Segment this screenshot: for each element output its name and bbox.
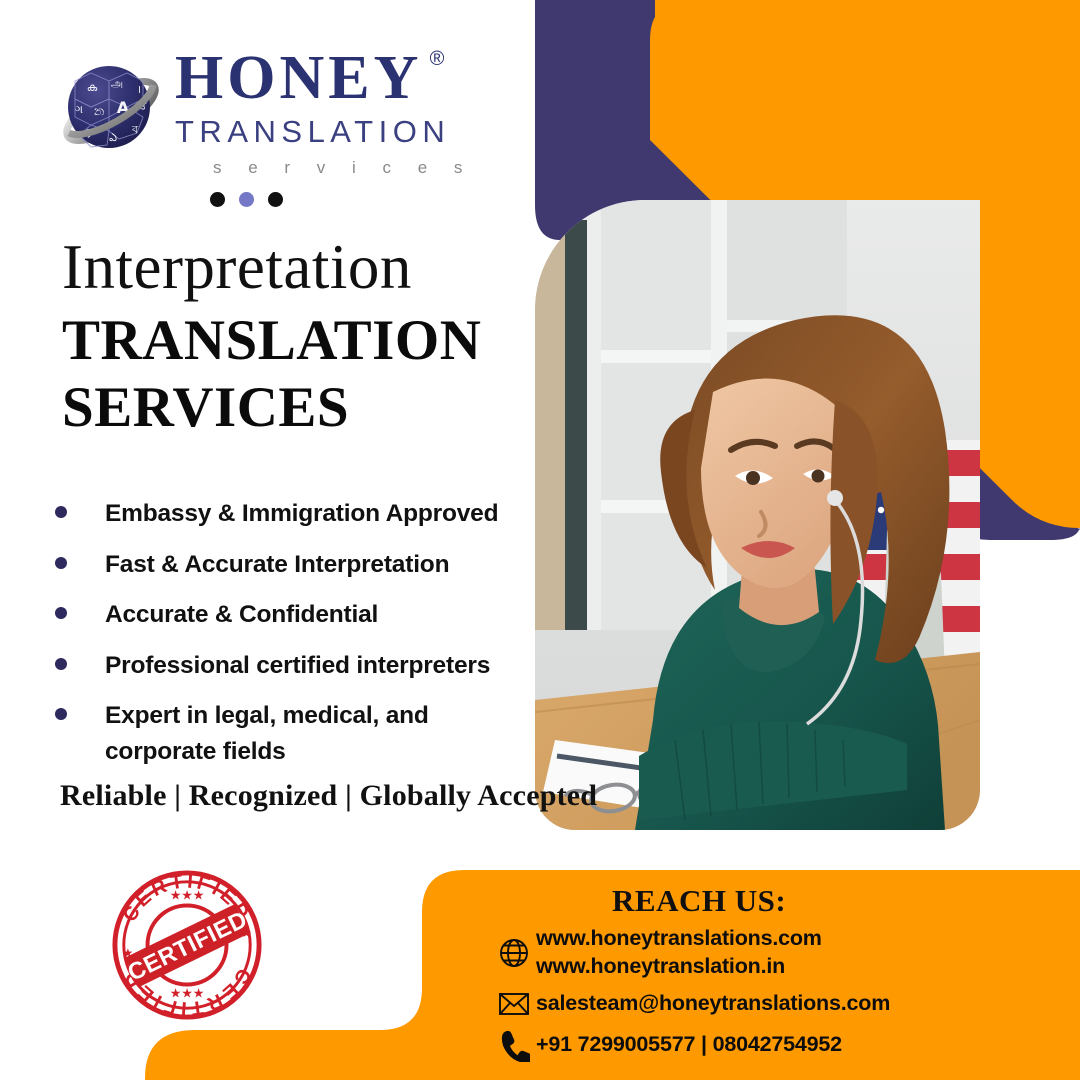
list-item-label: Fast & Accurate Interpretation xyxy=(105,547,449,583)
list-item-label: Professional certified interpreters xyxy=(105,648,490,684)
bullet-dot-icon xyxy=(55,557,67,569)
globe-icon: ക அ । ગ න A ਤੇ ア ఎ ব xyxy=(55,55,167,167)
heading-script: Interpretation xyxy=(62,236,412,299)
dot-3 xyxy=(268,192,283,207)
list-item-label: Expert in legal, medical, and corporate … xyxy=(105,698,445,769)
svg-text:★★★: ★★★ xyxy=(170,888,205,903)
list-item: Accurate & Confidential xyxy=(55,597,535,633)
list-item-label: Embassy & Immigration Approved xyxy=(105,496,498,532)
contact-list: www.honeytranslations.com www.honeytrans… xyxy=(492,925,1052,1071)
svg-text:அ: அ xyxy=(111,77,123,90)
bullet-dot-icon xyxy=(55,658,67,670)
feature-list: Embassy & Immigration Approved Fast & Ac… xyxy=(55,496,535,769)
phone-text[interactable]: +91 7299005577 | 08042754952 xyxy=(536,1031,842,1059)
envelope-icon xyxy=(492,989,536,1019)
hero-photo xyxy=(535,200,980,830)
heading-main: TRANSLATION SERVICES xyxy=(62,308,532,441)
svg-text:ക: ക xyxy=(87,81,98,94)
contact-row-website[interactable]: www.honeytranslations.com www.honeytrans… xyxy=(492,925,1052,980)
dot-1 xyxy=(210,192,225,207)
dot-separator xyxy=(210,192,283,207)
earbud xyxy=(827,490,843,506)
svg-text:।: । xyxy=(137,83,141,96)
website-line-2[interactable]: www.honeytranslation.in xyxy=(536,953,822,981)
contact-row-email[interactable]: salesteam@honeytranslations.com xyxy=(492,989,1052,1019)
svg-text:න: න xyxy=(94,104,105,119)
svg-text:ব: ব xyxy=(131,123,139,136)
website-line-1[interactable]: www.honeytranslations.com xyxy=(536,926,822,950)
list-item: Embassy & Immigration Approved xyxy=(55,496,535,532)
globe-icon xyxy=(492,936,536,970)
logo-primary-text: HONEY ® xyxy=(175,47,422,109)
svg-text:ఎ: ఎ xyxy=(109,131,117,144)
list-item: Expert in legal, medical, and corporate … xyxy=(55,698,535,769)
phone-icon xyxy=(492,1028,536,1062)
email-text[interactable]: salesteam@honeytranslations.com xyxy=(536,990,890,1018)
tagline: Reliable | Recognized | Globally Accepte… xyxy=(60,779,597,813)
list-item: Professional certified interpreters xyxy=(55,648,535,684)
list-item: Fast & Accurate Interpretation xyxy=(55,547,535,583)
registered-mark-icon: ® xyxy=(430,49,449,69)
list-item-label: Accurate & Confidential xyxy=(105,597,378,633)
bullet-dot-icon xyxy=(55,506,67,518)
logo-secondary-text: TRANSLATION xyxy=(175,113,475,152)
certified-stamp-badge: CERTIFIED CERTIFIED ★★★ ★★★ ★ ★ CERTIFIE… xyxy=(108,866,266,1024)
svg-text:★★★: ★★★ xyxy=(170,985,205,1000)
bullet-dot-icon xyxy=(55,607,67,619)
interpreter-photo-illustration xyxy=(535,200,980,830)
heading-main-line-1: TRANSLATION xyxy=(62,308,532,375)
logo-tertiary-text: s e r v i c e s xyxy=(213,158,475,178)
svg-text:ગ: ગ xyxy=(75,103,83,116)
dot-2 xyxy=(239,192,254,207)
heading-main-line-2: SERVICES xyxy=(62,375,532,442)
reach-us-title: REACH US: xyxy=(612,883,786,919)
website-text[interactable]: www.honeytranslations.com www.honeytrans… xyxy=(536,925,822,980)
brand-logo: ക அ । ગ න A ਤੇ ア ఎ ব HONEY ® TRANSLATION… xyxy=(55,47,415,172)
poster-canvas: ക அ । ગ න A ਤੇ ア ఎ ব HONEY ® TRANSLATION… xyxy=(0,0,1080,1080)
contact-row-phone[interactable]: +91 7299005577 | 08042754952 xyxy=(492,1028,1052,1062)
bullet-dot-icon xyxy=(55,708,67,720)
